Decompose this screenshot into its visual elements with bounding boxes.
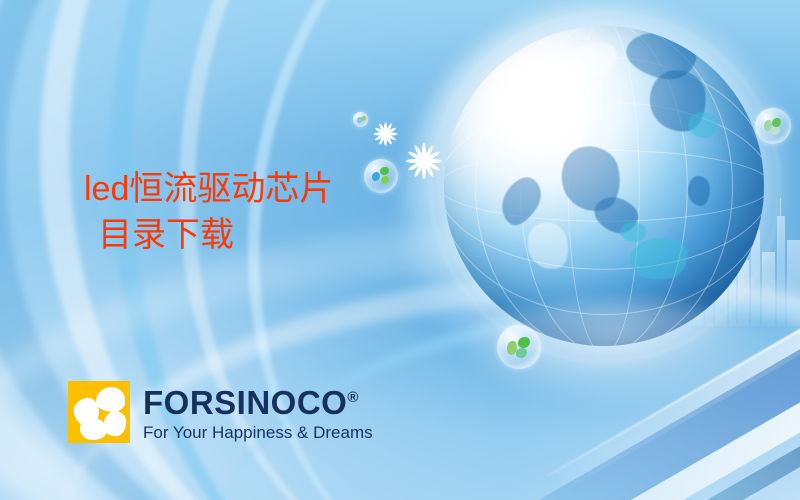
brand-tagline: For Your Happiness & Dreams (143, 422, 373, 443)
registered-trademark-icon: ® (347, 389, 358, 406)
bubble-pinwheel-icon (497, 325, 541, 369)
bubble-pinwheel-icon (364, 159, 398, 193)
logo-text-block: FORSINOCO® For Your Happiness & Dreams (143, 381, 373, 443)
bubble-pinwheel-inner (357, 116, 365, 124)
flower-sparkle-icon (405, 143, 443, 181)
bubble-pinwheel-inner (763, 116, 783, 136)
flower-sparkle-icon (372, 122, 398, 148)
brand-name: FORSINOCO® (143, 381, 373, 419)
bubble-pinwheel-inner (371, 166, 391, 186)
promo-banner: led恒流驱动芯片 目录下载 FORSINOCO® For Your Happi… (0, 0, 800, 500)
bubble-pinwheel-icon (353, 112, 368, 127)
bubble-pinwheel-inner (506, 334, 532, 360)
logo-petal-1 (95, 386, 126, 413)
bubble-pinwheel-icon (755, 108, 791, 144)
headline-block: led恒流驱动芯片 目录下载 (84, 166, 333, 258)
pinwheel-flower-icon (68, 381, 130, 443)
headline-line-2: 目录下载 (98, 212, 333, 258)
brand-word: FORSINOCO (143, 384, 347, 421)
company-logo: FORSINOCO® For Your Happiness & Dreams (68, 381, 373, 443)
headline-line-1: led恒流驱动芯片 (84, 166, 333, 212)
